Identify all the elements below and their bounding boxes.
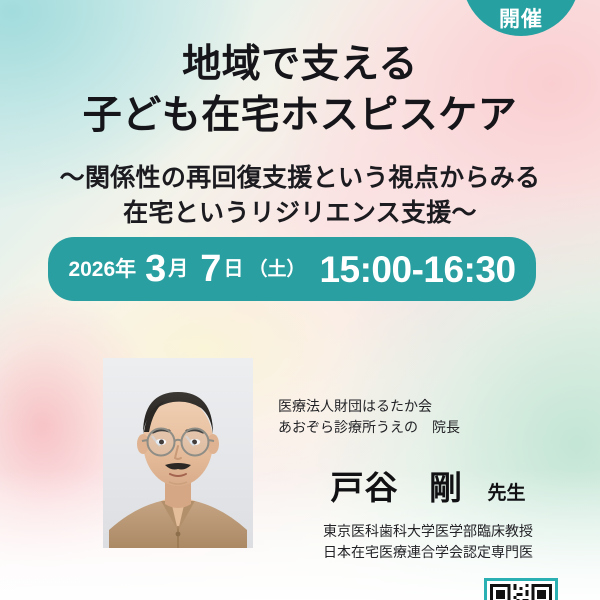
page-subtitle: 〜関係性の再回復支援という視点からみる 在宅というリジリエンス支援〜 — [0, 161, 600, 232]
page-title-line-2: 子ども在宅ホスピスケア — [0, 91, 600, 142]
page-title: 地域で支える 子ども在宅ホスピスケア — [0, 40, 600, 141]
page-title-line-1: 地域で支える — [0, 40, 600, 91]
speaker-portrait-photo — [103, 358, 253, 548]
speaker-surname: 戸谷 — [331, 469, 399, 506]
speaker-info: 医療法人財団はるたか会 あおぞら診療所うえの 院長 戸谷 剛 先生 東京医科歯科… — [278, 396, 578, 564]
event-datetime-pill: 2026年 3 月 7 日 （土） 15:00-16:30 — [48, 237, 536, 301]
speaker-credentials: 東京医科歯科大学医学部臨床教授 日本在宅医療連合学会認定専門医 — [278, 521, 578, 564]
speaker-affiliation-line-2: あおぞら診療所うえの 院長 — [278, 417, 578, 438]
status-badge: 開催 — [462, 0, 580, 36]
speaker-name: 戸谷 剛 先生 — [278, 461, 578, 509]
event-day-unit: 日 — [223, 259, 246, 279]
speaker-affiliation-line-1: 医療法人財団はるたか会 — [278, 396, 578, 417]
qr-code[interactable] — [484, 578, 558, 600]
speaker-honorific: 先生 — [467, 483, 525, 504]
event-year: 2026年 — [68, 259, 136, 280]
event-month: 3 — [136, 250, 168, 288]
event-poster: 開催 地域で支える 子ども在宅ホスピスケア 〜関係性の再回復支援という視点からみ… — [0, 0, 600, 600]
page-subtitle-line-1: 〜関係性の再回復支援という視点からみる — [0, 161, 600, 197]
speaker-credential-line-1: 東京医科歯科大学医学部臨床教授 — [278, 521, 578, 543]
event-time-range: 15:00-16:30 — [305, 251, 515, 288]
speaker-affiliation: 医療法人財団はるたか会 あおぞら診療所うえの 院長 — [278, 396, 578, 439]
status-badge-label: 開催 — [499, 9, 543, 30]
event-day: 7 — [191, 250, 223, 288]
event-month-unit: 月 — [168, 259, 191, 279]
page-subtitle-line-2: 在宅というリジリエンス支援〜 — [0, 196, 600, 232]
event-day-of-week: （土） — [246, 260, 305, 279]
speaker-credential-line-2: 日本在宅医療連合学会認定専門医 — [278, 542, 578, 564]
speaker-given-name: 剛 — [403, 469, 463, 506]
